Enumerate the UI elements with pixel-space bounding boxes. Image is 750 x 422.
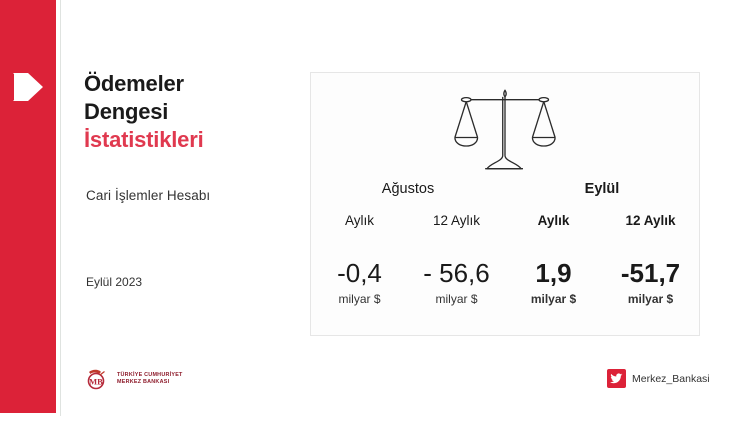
value-number: -51,7	[602, 257, 699, 289]
month-label-eylul: Eylül	[505, 181, 699, 197]
column-header-agustos-12aylik: 12 Aylık	[408, 213, 505, 228]
twitter-bird-icon[interactable]	[607, 369, 626, 388]
column-header-agustos-aylik: Aylık	[311, 213, 408, 228]
value-row: -0,4 milyar $ - 56,6 milyar $ 1,9 milyar…	[311, 257, 699, 309]
value-number: -0,4	[311, 257, 408, 289]
value-unit: milyar $	[602, 289, 699, 309]
value-cell-eylul-12aylik: -51,7 milyar $	[602, 257, 699, 309]
page-title: Ödemeler Dengesi İstatistikleri	[84, 70, 294, 154]
title-line-1: Ödemeler	[84, 70, 294, 98]
brand-red-band	[0, 0, 56, 413]
slide-root: Ödemeler Dengesi İstatistikleri Cari İşl…	[0, 0, 750, 422]
value-number: - 56,6	[408, 257, 505, 289]
statistics-card: Ağustos Eylül Aylık 12 Aylık Aylık 12 Ay…	[310, 72, 700, 336]
page-subtitle: Cari İşlemler Hesabı	[86, 188, 210, 203]
balance-scales-icon	[453, 85, 557, 178]
month-label-agustos: Ağustos	[311, 181, 505, 197]
title-line-2: Dengesi	[84, 98, 294, 126]
cbrt-logo-line-1: TÜRKİYE CUMHURİYET	[117, 372, 183, 380]
reference-period: Eylül 2023	[86, 275, 142, 289]
value-cell-agustos-12aylik: - 56,6 milyar $	[408, 257, 505, 309]
band-divider	[60, 0, 61, 416]
value-cell-eylul-aylik: 1,9 milyar $	[505, 257, 602, 309]
balance-scales-icon-wrap	[311, 85, 699, 178]
month-header-row: Ağustos Eylül	[311, 181, 699, 197]
cbrt-logo: MB TÜRKİYE CUMHURİYET MERKEZ BANKASI	[86, 368, 183, 390]
value-unit: milyar $	[505, 289, 602, 309]
cbrt-logo-text: TÜRKİYE CUMHURİYET MERKEZ BANKASI	[117, 372, 183, 387]
value-cell-agustos-aylik: -0,4 milyar $	[311, 257, 408, 309]
cbrt-logo-icon: MB	[86, 368, 112, 390]
value-unit: milyar $	[311, 289, 408, 309]
twitter-account[interactable]: Merkez_Bankasi	[607, 369, 710, 388]
value-number: 1,9	[505, 257, 602, 289]
svg-text:MB: MB	[89, 377, 103, 387]
twitter-handle-label[interactable]: Merkez_Bankasi	[632, 373, 710, 385]
column-header-row: Aylık 12 Aylık Aylık 12 Aylık	[311, 213, 699, 228]
chevron-right-icon	[12, 68, 46, 106]
cbrt-logo-line-2: MERKEZ BANKASI	[117, 379, 183, 387]
title-line-3: İstatistikleri	[84, 126, 294, 154]
column-header-eylul-aylik: Aylık	[505, 213, 602, 228]
value-unit: milyar $	[408, 289, 505, 309]
column-header-eylul-12aylik: 12 Aylık	[602, 213, 699, 228]
